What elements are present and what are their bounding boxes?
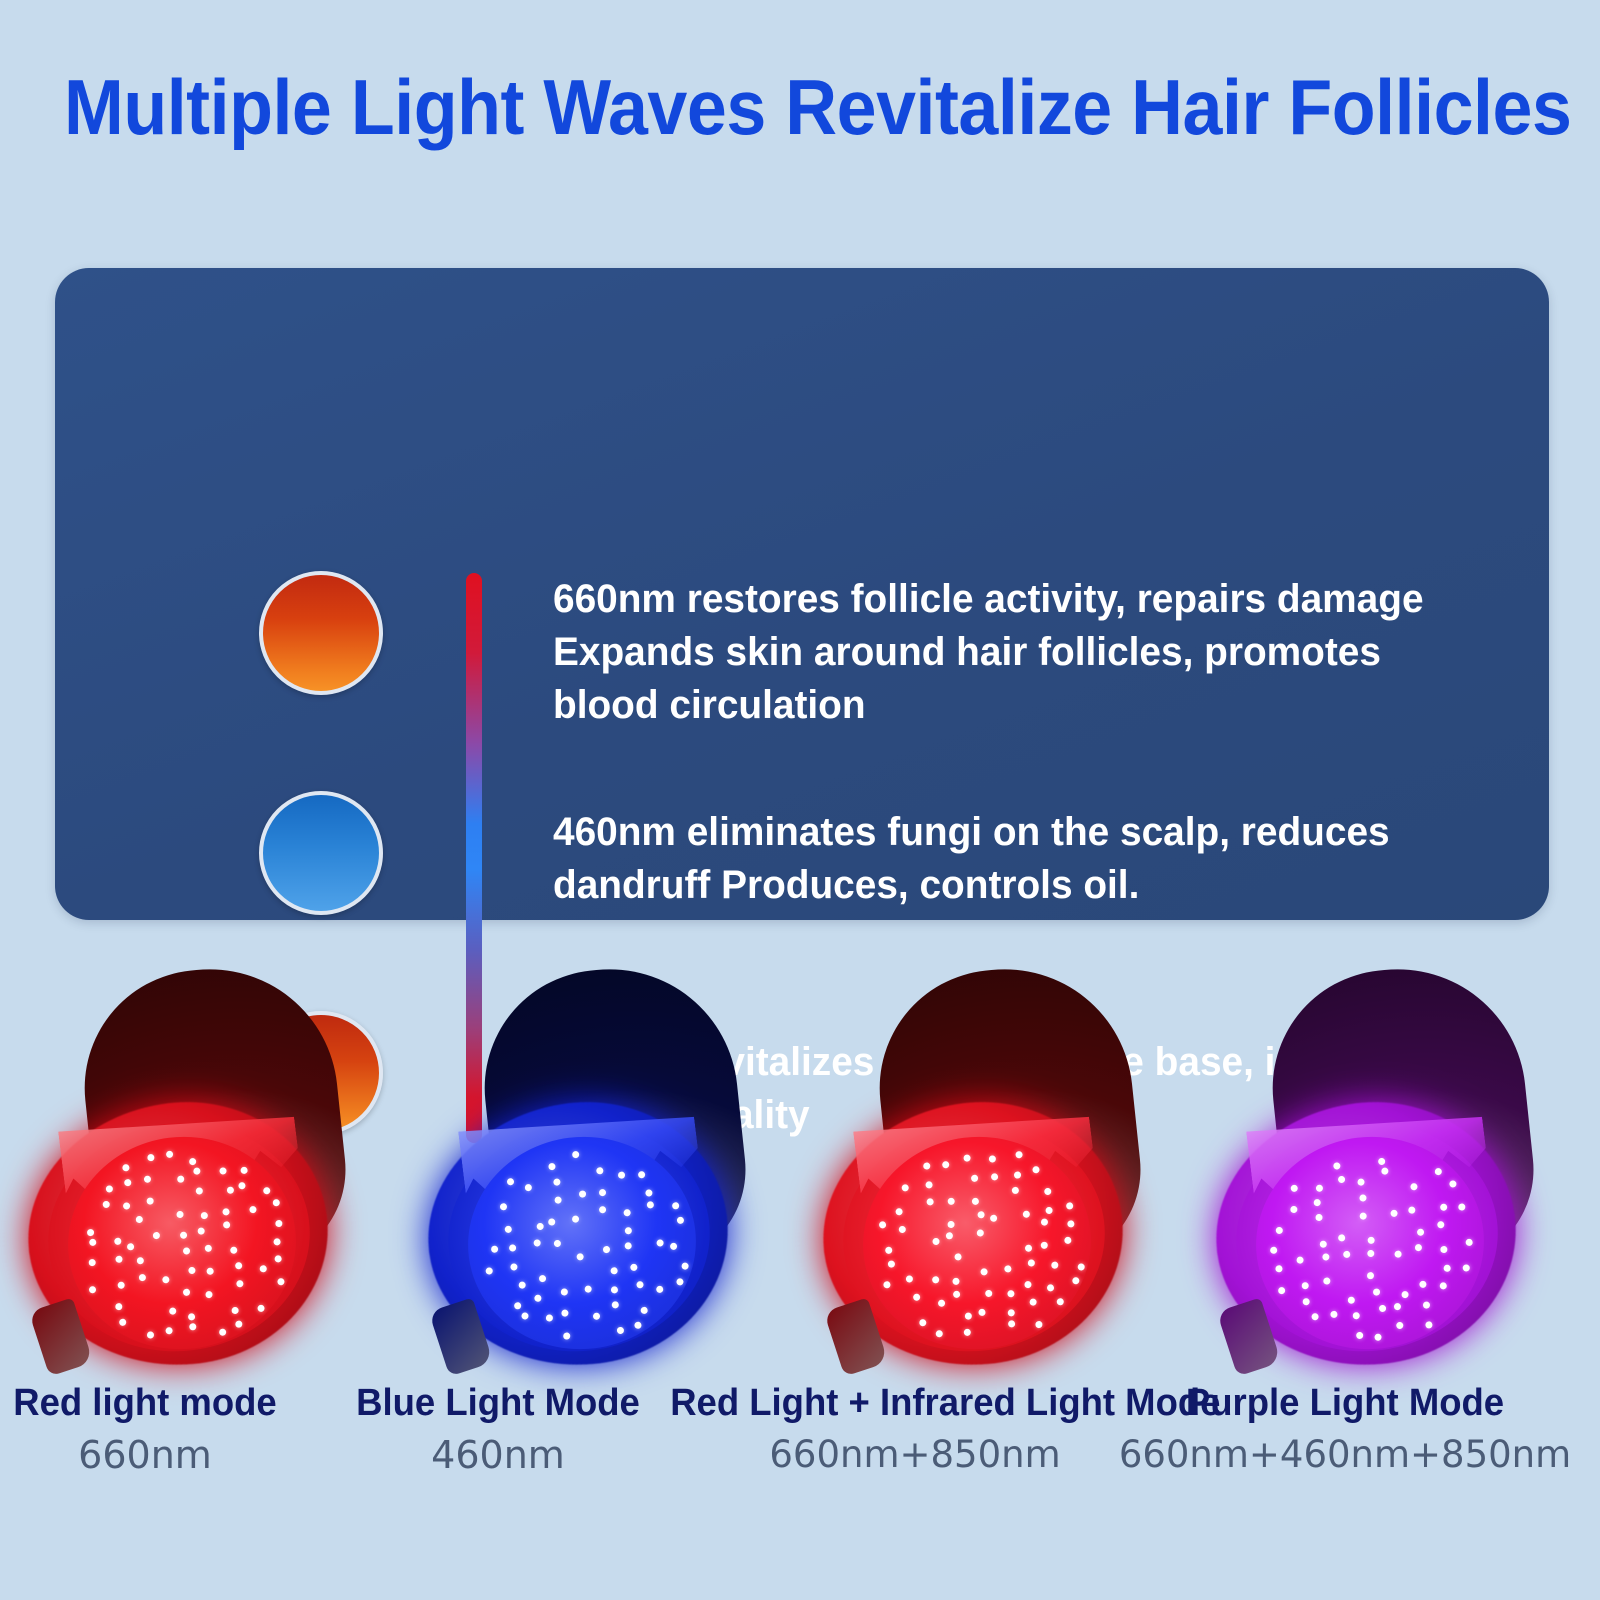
led-dot — [913, 1294, 921, 1302]
product-image-purple-light-cap — [1198, 955, 1598, 1385]
led-dot — [1338, 1176, 1346, 1184]
led-dot — [656, 1239, 664, 1247]
led-dot — [183, 1247, 191, 1255]
led-dot — [238, 1182, 246, 1190]
product-image-red-light-cap — [10, 955, 410, 1385]
led-dot — [610, 1267, 618, 1275]
led-dot — [1296, 1256, 1304, 1264]
led-dot — [177, 1175, 185, 1183]
led-dot — [571, 1215, 579, 1223]
led-dot — [263, 1187, 271, 1195]
led-dot — [1374, 1333, 1382, 1341]
led-dot — [646, 1201, 654, 1209]
led-dot — [1396, 1321, 1404, 1329]
led-dot — [165, 1327, 173, 1335]
led-dot — [593, 1312, 601, 1320]
led-dot — [1014, 1171, 1022, 1179]
led-dot — [584, 1286, 592, 1294]
led-dot — [182, 1288, 190, 1296]
indicator-dot-660nm — [259, 571, 383, 695]
led-dot — [229, 1246, 237, 1254]
led-dot — [1394, 1250, 1402, 1258]
led-dot — [277, 1278, 285, 1286]
page-title: Multiple Light Waves Revitalize Hair Fol… — [64, 68, 1536, 146]
led-dot — [941, 1161, 949, 1169]
led-dot — [1078, 1263, 1086, 1271]
led-dot — [676, 1278, 684, 1286]
led-dot — [1302, 1298, 1310, 1306]
led-dot — [1381, 1167, 1389, 1175]
led-dot — [1023, 1210, 1031, 1218]
led-dot — [1330, 1310, 1338, 1318]
product-image-red-infrared-cap — [805, 955, 1205, 1385]
mode-wavelength: 460nm — [348, 1434, 648, 1478]
led-dot — [1414, 1244, 1422, 1252]
led-dot — [1050, 1261, 1058, 1269]
led-dot — [980, 1268, 988, 1276]
led-dot — [1357, 1179, 1365, 1187]
led-dot — [166, 1151, 174, 1159]
led-dot — [1423, 1301, 1431, 1309]
led-dot — [219, 1328, 227, 1336]
led-dot — [1373, 1288, 1381, 1296]
led-dot — [641, 1307, 649, 1315]
light-wave-info-card: 660nm restores follicle activity, repair… — [55, 268, 1549, 920]
led-dot — [507, 1178, 515, 1186]
led-dot — [197, 1227, 205, 1235]
led-dot — [1440, 1203, 1448, 1211]
led-dot — [926, 1198, 934, 1206]
led-dot — [599, 1189, 607, 1197]
led-dot — [599, 1206, 607, 1214]
led-dot — [135, 1215, 143, 1223]
led-dot — [205, 1291, 213, 1299]
led-dot — [115, 1255, 123, 1263]
led-dot — [147, 1154, 155, 1162]
led-dot — [545, 1314, 553, 1322]
led-dot — [879, 1221, 887, 1229]
led-dot — [1367, 1250, 1375, 1258]
led-dot — [1301, 1282, 1309, 1290]
led-dot — [1439, 1282, 1447, 1290]
led-dot — [513, 1302, 521, 1310]
led-dot — [1449, 1180, 1457, 1188]
led-dot — [1360, 1213, 1368, 1221]
led-dot — [236, 1280, 244, 1288]
led-dot — [499, 1203, 507, 1211]
led-dot — [1425, 1321, 1433, 1329]
led-dot — [611, 1286, 619, 1294]
led-dot — [560, 1288, 568, 1296]
led-dot — [977, 1211, 985, 1219]
led-dot — [1315, 1184, 1323, 1192]
led-dot — [275, 1219, 283, 1227]
led-dot — [115, 1303, 123, 1311]
led-dot — [518, 1281, 526, 1289]
led-dot — [152, 1232, 160, 1240]
led-dot — [1275, 1264, 1283, 1272]
led-dot — [1408, 1206, 1416, 1214]
led-dot — [1343, 1250, 1351, 1258]
led-dot — [509, 1244, 517, 1252]
led-dot — [1064, 1237, 1072, 1245]
led-dot — [1368, 1237, 1376, 1245]
led-dot — [616, 1326, 624, 1334]
mode-wavelength: 660nm+460nm+850nm — [1090, 1434, 1600, 1477]
led-dot — [536, 1222, 544, 1230]
led-dot — [88, 1259, 96, 1267]
led-dot — [1008, 1320, 1016, 1328]
mode-label-purple: Purple Light Mode 660nm+460nm+850nm — [1090, 1382, 1600, 1476]
led-dot — [176, 1210, 184, 1218]
led-dot — [977, 1229, 985, 1237]
led-dot — [226, 1186, 234, 1194]
led-dot — [579, 1191, 587, 1199]
led-dot — [137, 1256, 145, 1264]
led-dot — [1057, 1298, 1065, 1306]
led-dot — [1045, 1207, 1053, 1215]
led-dot — [162, 1276, 170, 1284]
led-dot — [1270, 1246, 1278, 1254]
led-dot — [1378, 1157, 1386, 1165]
led-dot — [555, 1196, 563, 1204]
led-dot — [1028, 1259, 1036, 1267]
led-dot — [275, 1254, 283, 1262]
led-dot — [521, 1312, 529, 1320]
led-dot — [127, 1242, 135, 1250]
info-text-460nm: 460nm eliminates fungi on the scalp, red… — [553, 806, 1484, 912]
led-dot — [188, 1313, 196, 1321]
led-dot — [1315, 1214, 1323, 1222]
led-dot — [1401, 1291, 1409, 1299]
led-dot — [630, 1263, 638, 1271]
led-dot — [905, 1275, 913, 1283]
led-dot — [932, 1237, 940, 1245]
led-dot — [572, 1150, 580, 1158]
led-dot — [1041, 1241, 1049, 1249]
led-dot — [249, 1206, 257, 1214]
led-dot — [1067, 1220, 1075, 1228]
led-dot — [491, 1245, 499, 1253]
mode-labels-row: Red light mode 660nm Blue Light Mode 460… — [0, 1382, 1600, 1512]
led-dot — [235, 1320, 243, 1328]
led-dot — [946, 1232, 954, 1240]
led-dot — [1024, 1281, 1032, 1289]
led-dot — [207, 1268, 215, 1276]
led-dot — [1277, 1287, 1285, 1295]
led-dot — [670, 1242, 678, 1250]
led-dot — [988, 1155, 996, 1163]
mode-name: Red light mode — [6, 1382, 284, 1426]
led-dot — [637, 1170, 645, 1178]
led-dot — [553, 1178, 561, 1186]
led-dot — [525, 1184, 533, 1192]
product-image-blue-light-cap — [410, 955, 810, 1385]
led-dot — [953, 1291, 961, 1299]
led-dot — [1356, 1331, 1364, 1339]
led-dot — [947, 1220, 955, 1228]
led-dot — [486, 1267, 494, 1275]
led-dot — [1029, 1298, 1037, 1306]
product-mode-gallery — [0, 955, 1600, 1385]
mode-label-red: Red light mode 660nm — [0, 1382, 290, 1477]
led-dot — [883, 1281, 891, 1289]
led-dot — [624, 1227, 632, 1235]
led-dot — [637, 1281, 645, 1289]
led-dot — [948, 1197, 956, 1205]
led-dot — [1290, 1206, 1298, 1214]
led-dot — [1066, 1202, 1074, 1210]
led-dot — [222, 1208, 230, 1216]
led-dot — [965, 1313, 973, 1321]
led-dot — [923, 1162, 931, 1170]
led-dot — [257, 1305, 265, 1313]
mode-name: Purple Light Mode — [1100, 1382, 1590, 1426]
led-dot — [1313, 1199, 1321, 1207]
led-dot — [1320, 1240, 1328, 1248]
mode-name: Red Light + Infrared Light Mode — [670, 1382, 1160, 1426]
led-dot — [1015, 1151, 1023, 1159]
led-dot — [888, 1260, 896, 1268]
led-dot — [1443, 1264, 1451, 1272]
led-dot — [118, 1282, 126, 1290]
led-dot — [937, 1299, 945, 1307]
led-dot — [634, 1322, 642, 1330]
led-dot — [895, 1207, 903, 1215]
led-dot — [235, 1262, 243, 1270]
led-dot — [188, 1266, 196, 1274]
led-dot — [123, 1202, 131, 1210]
led-dot — [219, 1167, 227, 1175]
led-dot — [553, 1240, 561, 1248]
mode-name: Blue Light Mode — [354, 1382, 642, 1426]
led-dot — [1419, 1281, 1427, 1289]
led-dot — [510, 1263, 518, 1271]
led-dot — [971, 1198, 979, 1206]
led-dot — [223, 1222, 231, 1230]
led-dot — [241, 1166, 249, 1174]
led-dot — [1437, 1221, 1445, 1229]
led-dot — [1072, 1276, 1080, 1284]
led-dot — [89, 1286, 97, 1294]
led-dot — [124, 1179, 132, 1187]
led-dot — [1047, 1284, 1055, 1292]
led-dot — [1352, 1312, 1360, 1320]
led-dot — [147, 1331, 155, 1339]
led-dot — [1035, 1320, 1043, 1328]
led-dot — [102, 1201, 110, 1209]
led-dot — [1024, 1245, 1032, 1253]
led-dot — [978, 1309, 986, 1317]
led-dot — [1007, 1290, 1015, 1298]
led-dot — [204, 1244, 212, 1252]
led-dot — [534, 1295, 542, 1303]
led-dot — [533, 1239, 541, 1247]
led-dot — [1410, 1183, 1418, 1191]
led-dot — [952, 1278, 960, 1286]
mode-label-blue: Blue Light Mode 460nm — [348, 1382, 648, 1477]
led-dot — [971, 1174, 979, 1182]
led-dot — [504, 1226, 512, 1234]
led-dot — [122, 1164, 130, 1172]
led-dot — [119, 1318, 127, 1326]
led-dot — [1044, 1188, 1052, 1196]
led-dot — [932, 1276, 940, 1284]
led-dot — [169, 1307, 177, 1315]
led-dot — [272, 1199, 280, 1207]
led-dot — [990, 1215, 998, 1223]
led-dot — [624, 1242, 632, 1250]
led-dot — [259, 1265, 267, 1273]
led-dot — [1435, 1167, 1443, 1175]
led-dot — [1359, 1194, 1367, 1202]
led-dot — [901, 1184, 909, 1192]
led-dot — [231, 1307, 239, 1315]
led-dot — [681, 1262, 689, 1270]
led-dot — [563, 1332, 571, 1340]
led-dot — [954, 1253, 962, 1261]
led-dot — [114, 1238, 122, 1246]
led-dot — [656, 1285, 664, 1293]
led-dot — [273, 1238, 281, 1246]
led-dot — [561, 1309, 569, 1317]
led-dot — [146, 1197, 154, 1205]
info-text-660nm: 660nm restores follicle activity, repair… — [553, 573, 1484, 733]
led-dot — [144, 1175, 152, 1183]
led-dot — [1322, 1253, 1330, 1261]
led-dot — [672, 1202, 680, 1210]
led-dot — [179, 1231, 187, 1239]
led-dot — [1276, 1227, 1284, 1235]
led-dot — [985, 1290, 993, 1298]
led-dot — [576, 1253, 584, 1261]
led-dot — [1367, 1272, 1375, 1280]
led-dot — [885, 1247, 893, 1255]
led-dot — [991, 1173, 999, 1181]
led-dot — [1333, 1162, 1341, 1170]
led-dot — [618, 1172, 626, 1180]
led-dot — [963, 1328, 971, 1336]
mode-wavelength: 660nm — [0, 1434, 290, 1478]
led-dot — [1012, 1186, 1020, 1194]
led-dot — [1465, 1239, 1473, 1247]
led-dot — [193, 1168, 201, 1176]
led-dot — [1440, 1246, 1448, 1254]
led-dot — [899, 1226, 907, 1234]
led-dot — [196, 1188, 204, 1196]
led-dot — [1462, 1264, 1470, 1272]
led-dot — [596, 1167, 604, 1175]
led-dot — [548, 1163, 556, 1171]
led-dot — [1347, 1296, 1355, 1304]
led-dot — [189, 1157, 197, 1165]
led-dot — [1458, 1203, 1466, 1211]
led-dot — [611, 1302, 619, 1310]
led-dot — [1390, 1210, 1398, 1218]
led-dot — [1393, 1303, 1401, 1311]
led-dot — [1323, 1277, 1331, 1285]
led-dot — [538, 1275, 546, 1283]
led-dot — [189, 1323, 197, 1331]
led-dot — [1379, 1305, 1387, 1313]
led-dot — [623, 1209, 631, 1217]
indicator-dot-460nm — [259, 791, 383, 915]
led-dot — [676, 1217, 684, 1225]
led-dot — [1041, 1219, 1049, 1227]
led-dot — [201, 1212, 209, 1220]
led-dot — [925, 1181, 933, 1189]
led-dot — [548, 1218, 556, 1226]
led-dot — [645, 1189, 653, 1197]
led-dot — [1007, 1309, 1015, 1317]
led-dot — [86, 1228, 94, 1236]
led-dot — [1004, 1265, 1012, 1273]
led-dot — [935, 1330, 943, 1338]
led-dot — [1311, 1312, 1319, 1320]
led-dot — [602, 1246, 610, 1254]
led-dot — [1032, 1166, 1040, 1174]
led-dot — [1338, 1234, 1346, 1242]
led-dot — [88, 1239, 96, 1247]
led-dot — [105, 1185, 113, 1193]
led-dot — [1290, 1185, 1298, 1193]
led-dot — [1417, 1228, 1425, 1236]
led-dot — [918, 1318, 926, 1326]
led-dot — [963, 1154, 971, 1162]
led-dot — [139, 1274, 147, 1282]
